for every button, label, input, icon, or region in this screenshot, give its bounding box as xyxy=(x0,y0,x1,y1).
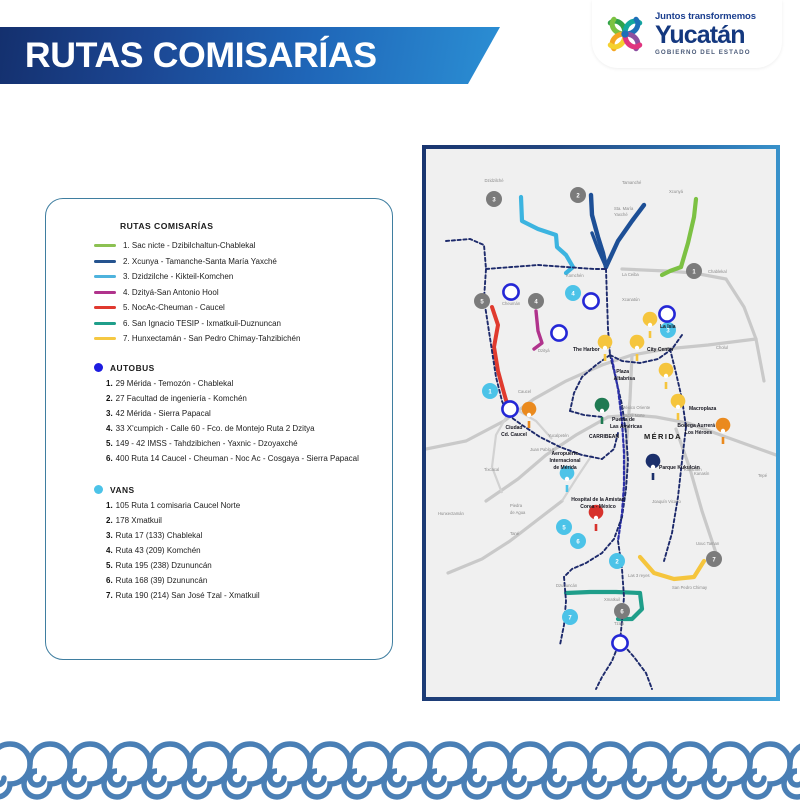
item-index: 7. xyxy=(106,591,113,600)
route-color-swatch xyxy=(94,322,116,325)
list-item[interactable]: 5. Ruta 195 (238) Dzununcán xyxy=(106,561,376,576)
svg-text:The Harbor: The Harbor xyxy=(573,347,600,353)
svg-text:Aeropuerto: Aeropuerto xyxy=(552,451,579,457)
svg-text:Piedra: Piedra xyxy=(510,503,523,508)
item-index: 3. xyxy=(106,409,113,418)
svg-text:de Mérida: de Mérida xyxy=(553,465,577,471)
item-label: Ruta 17 (133) Chablekal xyxy=(116,531,203,540)
item-label: Ruta 43 (209) Komchén xyxy=(116,546,201,555)
svg-text:Corea - México: Corea - México xyxy=(580,504,616,510)
item-index: 6. xyxy=(106,576,113,585)
logo-subtitle: GOBIERNO DEL ESTADO xyxy=(655,50,756,56)
item-index: 5. xyxy=(106,561,113,570)
list-item[interactable]: 7. Ruta 190 (214) San José Tzal - Xmatku… xyxy=(106,591,376,606)
route-color-swatch xyxy=(94,275,116,278)
route-legend-item[interactable]: 2. Xcunya - Tamanche-Santa María Yaxché xyxy=(94,254,376,270)
item-index: 1. xyxy=(106,501,113,510)
group-header: AUTOBUS xyxy=(94,363,376,373)
svg-text:Hunxectamán: Hunxectamán xyxy=(438,511,465,516)
item-index: 1. xyxy=(106,379,113,388)
list-item[interactable]: 1. 29 Mérida - Temozón - Chablekal xyxy=(106,379,376,394)
svg-text:Joaquín Vicario: Joaquín Vicario xyxy=(652,499,681,504)
vans-list: 1. 105 Ruta 1 comisaria Caucel Norte 2. … xyxy=(94,501,376,606)
yucatan-logo-plate: Juntos transformemos Yucatán GOBIERNO DE… xyxy=(592,0,782,68)
list-item[interactable]: 3. 42 Mérida - Sierra Papacal xyxy=(106,409,376,424)
list-item[interactable]: 6. 400 Ruta 14 Caucel - Cheuman - Noc Ac… xyxy=(106,454,376,469)
svg-text:Sta. María: Sta. María xyxy=(614,206,634,211)
item-index: 2. xyxy=(106,516,113,525)
route-label: 2. Xcunya - Tamanche-Santa María Yaxché xyxy=(123,257,277,266)
svg-text:Yucalpetén: Yucalpetén xyxy=(548,433,569,438)
item-label: 29 Mérida - Temozón - Chablekal xyxy=(116,379,234,388)
group-header: VANS xyxy=(94,485,376,495)
route-label: 7. Hunxectamán - San Pedro Chimay-Tahzib… xyxy=(123,334,300,343)
item-index: 4. xyxy=(106,546,113,555)
legend-title: RUTAS COMISARÍAS xyxy=(120,221,376,231)
svg-text:Macroplaza: Macroplaza xyxy=(689,406,716,412)
svg-text:México Oriente: México Oriente xyxy=(622,405,651,410)
route-legend-item[interactable]: 4. Dzityá-San Antonio Hool xyxy=(94,285,376,301)
list-item[interactable]: 4. 33 X'cumpich - Calle 60 - Fco. de Mon… xyxy=(106,424,376,439)
list-item[interactable]: 4. Ruta 43 (209) Komchén xyxy=(106,546,376,561)
svg-text:Tamanché: Tamanché xyxy=(622,180,642,185)
map-panel-frame: .rd{stroke:#c9c9c9;stroke-width:3.2;fill… xyxy=(422,145,780,701)
svg-text:Ciudad: Ciudad xyxy=(506,425,523,431)
svg-text:Komchén: Komchén xyxy=(566,273,584,278)
svg-text:Hospital de la Amistad: Hospital de la Amistad xyxy=(571,497,624,503)
svg-text:Uxuc Taman: Uxuc Taman xyxy=(696,541,720,546)
item-index: 6. xyxy=(106,454,113,463)
item-label: 33 X'cumpich - Calle 60 - Fco. de Montej… xyxy=(116,424,315,433)
item-label: 178 Xmatkuil xyxy=(116,516,162,525)
svg-text:Sodzil Norte: Sodzil Norte xyxy=(622,413,645,418)
logo-wordmark: Yucatán xyxy=(655,23,756,48)
map-canvas[interactable]: .rd{stroke:#c9c9c9;stroke-width:3.2;fill… xyxy=(426,149,776,697)
svg-text:Cheumán: Cheumán xyxy=(502,301,521,306)
svg-text:Tané: Tané xyxy=(510,531,520,536)
svg-text:Xmatkuil: Xmatkuil xyxy=(604,597,620,602)
svg-text:Dzityá: Dzityá xyxy=(538,348,550,353)
item-label: 42 Mérida - Sierra Papacal xyxy=(116,409,211,418)
item-index: 3. xyxy=(106,531,113,540)
route-label: 6. San Ignacio TESIP - Ixmatkuil-Duznunc… xyxy=(123,319,281,328)
svg-text:Kanasín: Kanasín xyxy=(694,471,710,476)
svg-text:Altabrisa: Altabrisa xyxy=(614,376,636,382)
route-color-swatch xyxy=(94,337,116,340)
item-label: 27 Facultad de ingeniería - Komchén xyxy=(116,394,247,403)
vans-dot-icon xyxy=(94,485,103,494)
autobus-list: 1. 29 Mérida - Temozón - Chablekal 2. 27… xyxy=(94,379,376,469)
route-legend-item[interactable]: 3. Dzidzilche - Kikteil-Komchen xyxy=(94,269,376,285)
route-color-swatch xyxy=(94,306,116,309)
route-label: 1. Sac nicte - Dzibilchaltun-Chablekal xyxy=(123,241,256,250)
svg-text:de Agua: de Agua xyxy=(510,510,526,515)
svg-text:Caucel: Caucel xyxy=(518,389,531,394)
item-label: Ruta 195 (238) Dzununcán xyxy=(116,561,212,570)
svg-text:Yaxché: Yaxché xyxy=(614,212,628,217)
route-legend-list: 1. Sac nicte - Dzibilchaltun-Chablekal 2… xyxy=(94,238,376,347)
greca-maya-spiral-icon xyxy=(0,738,800,800)
item-index: 2. xyxy=(106,394,113,403)
svg-text:CARRIBEAN: CARRIBEAN xyxy=(589,434,619,440)
svg-text:Cd. Caucel: Cd. Caucel xyxy=(501,432,527,438)
svg-text:Tixcacal: Tixcacal xyxy=(484,467,499,472)
item-label: Ruta 168 (39) Dzununcán xyxy=(116,576,208,585)
route-color-swatch xyxy=(94,291,116,294)
legend-content: RUTAS COMISARÍAS 1. Sac nicte - Dzibilch… xyxy=(46,199,392,616)
svg-text:Cholul: Cholul xyxy=(716,345,728,350)
svg-text:Tepé: Tepé xyxy=(758,473,768,478)
list-item[interactable]: 5. 149 - 42 IMSS - Tahdzibichen - Yaxnic… xyxy=(106,439,376,454)
group-title: AUTOBUS xyxy=(110,363,155,373)
page-title: RUTAS COMISARÍAS xyxy=(0,38,377,73)
autobus-dot-icon xyxy=(94,363,103,372)
group-title: VANS xyxy=(110,485,135,495)
route-color-swatch xyxy=(94,244,116,247)
list-item[interactable]: 2. 27 Facultad de ingeniería - Komchén xyxy=(106,394,376,409)
route-legend-item[interactable]: 6. San Ignacio TESIP - Ixmatkuil-Duznunc… xyxy=(94,316,376,332)
svg-text:Internacional: Internacional xyxy=(549,458,581,464)
list-item[interactable]: 6. Ruta 168 (39) Dzununcán xyxy=(106,576,376,591)
route-color-swatch xyxy=(94,260,116,263)
poster-root: RUTAS COMISARÍAS Juntos transformemos Yu… xyxy=(0,0,800,800)
item-label: Ruta 190 (214) San José Tzal - Xmatkuil xyxy=(116,591,260,600)
route-map-svg[interactable]: .rd{stroke:#c9c9c9;stroke-width:3.2;fill… xyxy=(426,149,776,697)
route-label: 4. Dzityá-San Antonio Hool xyxy=(123,288,219,297)
item-index: 4. xyxy=(106,424,113,433)
group-autobus: AUTOBUS 1. 29 Mérida - Temozón - Chablek… xyxy=(94,363,376,469)
group-vans: VANS 1. 105 Ruta 1 comisaria Caucel Nort… xyxy=(94,485,376,606)
route-legend-item[interactable]: 5. NocAc-Cheuman - Caucel xyxy=(94,300,376,316)
item-index: 5. xyxy=(106,439,113,448)
svg-text:Las Américas: Las Américas xyxy=(610,424,643,430)
legend-card: RUTAS COMISARÍAS 1. Sac nicte - Dzibilch… xyxy=(45,198,393,660)
svg-text:Bodega Aurrerá: Bodega Aurrerá xyxy=(677,423,715,429)
list-item[interactable]: 1. 105 Ruta 1 comisaria Caucel Norte xyxy=(106,501,376,516)
yucatan-emblem-icon xyxy=(602,11,648,57)
svg-text:Chablekal: Chablekal xyxy=(708,269,727,274)
svg-text:MÉRIDA: MÉRIDA xyxy=(644,432,682,441)
route-legend-item[interactable]: 1. Sac nicte - Dzibilchaltun-Chablekal xyxy=(94,238,376,254)
svg-text:Plaza: Plaza xyxy=(616,369,629,375)
list-item[interactable]: 2. 178 Xmatkuil xyxy=(106,516,376,531)
svg-text:Dzidzilché: Dzidzilché xyxy=(484,178,504,183)
route-label: 5. NocAc-Cheuman - Caucel xyxy=(123,303,225,312)
route-label: 3. Dzidzilche - Kikteil-Komchen xyxy=(123,272,233,281)
svg-text:Dzununcán: Dzununcán xyxy=(556,583,578,588)
svg-text:Tzaip: Tzaip xyxy=(614,621,625,626)
header-banner: RUTAS COMISARÍAS xyxy=(0,27,500,84)
list-item[interactable]: 3. Ruta 17 (133) Chablekal xyxy=(106,531,376,546)
svg-text:La Ceiba: La Ceiba xyxy=(622,272,639,277)
svg-text:Juan Pablo II: Juan Pablo II xyxy=(530,447,554,452)
item-label: 149 - 42 IMSS - Tahdzibichen - Yaxnic - … xyxy=(116,439,298,448)
svg-text:San Pedro Chimay: San Pedro Chimay xyxy=(672,585,708,590)
svg-text:Xcunyá: Xcunyá xyxy=(669,189,684,194)
item-label: 105 Ruta 1 comisaria Caucel Norte xyxy=(116,501,241,510)
logo-wordmark-group: Juntos transformemos Yucatán GOBIERNO DE… xyxy=(655,12,756,56)
svg-text:Xcanatún: Xcanatún xyxy=(622,297,640,302)
footer-pattern-band xyxy=(0,738,800,800)
item-label: 400 Ruta 14 Caucel - Cheuman - Noc Ac - … xyxy=(116,454,359,463)
svg-text:La Isla: La Isla xyxy=(660,324,676,330)
svg-text:City Center: City Center xyxy=(647,347,674,353)
route-legend-item[interactable]: 7. Hunxectamán - San Pedro Chimay-Tahzib… xyxy=(94,331,376,347)
svg-text:Los Héroes: Los Héroes xyxy=(685,430,712,436)
svg-text:Las 3 reyes: Las 3 reyes xyxy=(628,573,650,578)
